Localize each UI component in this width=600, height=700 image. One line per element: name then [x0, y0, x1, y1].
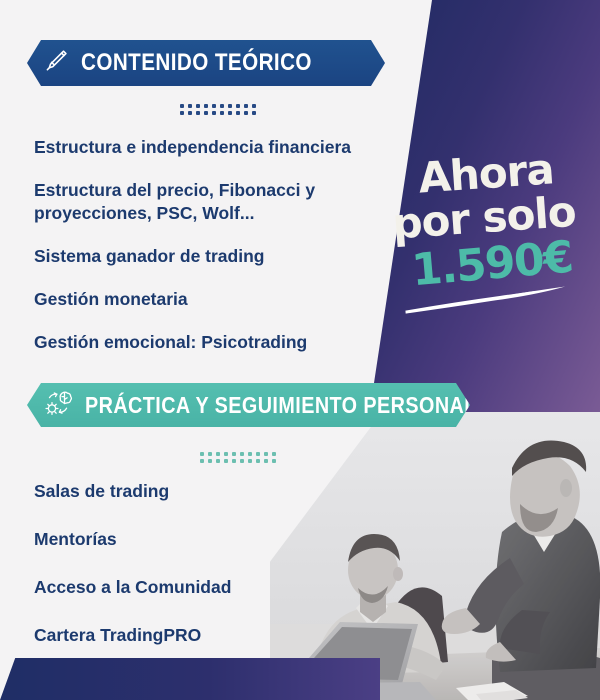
list-item: Gestión monetaria — [34, 288, 414, 311]
price-callout: Ahora por solo 1.590€ — [386, 152, 586, 313]
feature-list-practice: Salas de trading Mentorías Acceso a la C… — [34, 480, 334, 672]
pencil-icon — [43, 48, 69, 79]
banner-label-theory: CONTENIDO TEÓRICO — [81, 49, 312, 77]
list-item: Salas de trading — [34, 480, 334, 503]
list-item: Sistema ganador de trading — [34, 245, 414, 268]
banner-practica-seguimiento: PRÁCTICA Y SEGUIMIENTO PERSONALIZADO — [27, 383, 470, 427]
brain-gear-icon — [43, 389, 73, 422]
list-item: Cartera TradingPRO — [34, 624, 334, 647]
dot-decoration-practice — [200, 452, 276, 463]
list-item: Acceso a la Comunidad — [34, 576, 334, 599]
list-item: Mentorías — [34, 528, 334, 551]
list-item: Gestión emocional: Psicotrading — [34, 331, 414, 354]
banner-contenido-teorico: CONTENIDO TEÓRICO — [27, 40, 385, 86]
promo-graphic: CONTENIDO TEÓRICO Estructura e independe… — [0, 0, 600, 700]
feature-list-theory: Estructura e independencia financiera Es… — [34, 136, 414, 375]
dot-decoration-theory — [180, 104, 256, 115]
list-item: Estructura e independencia financiera — [34, 136, 414, 159]
list-item: Estructura del precio, Fibonacci y proye… — [34, 179, 414, 225]
